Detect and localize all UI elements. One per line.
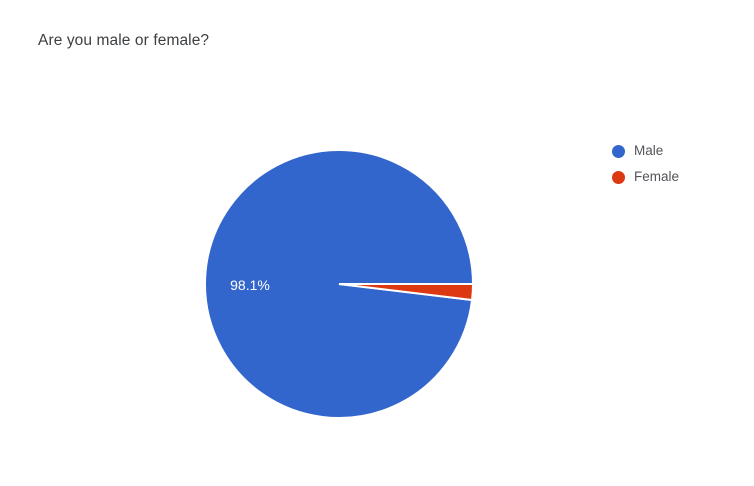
- legend-item-female[interactable]: Female: [612, 168, 679, 186]
- legend-label-male: Male: [634, 142, 663, 160]
- pie-chart-svg: 98.1%: [0, 0, 754, 486]
- chart-legend: Male Female: [612, 142, 679, 186]
- pie-chart-plot-area: 98.1%: [0, 0, 754, 486]
- legend-swatch-female-icon: [612, 171, 625, 184]
- legend-item-male[interactable]: Male: [612, 142, 679, 160]
- legend-label-female: Female: [634, 168, 679, 186]
- slice-label-male: 98.1%: [230, 277, 270, 293]
- legend-swatch-male-icon: [612, 145, 625, 158]
- pie-chart-card: Are you male or female? 98.1% Male Femal…: [0, 0, 754, 486]
